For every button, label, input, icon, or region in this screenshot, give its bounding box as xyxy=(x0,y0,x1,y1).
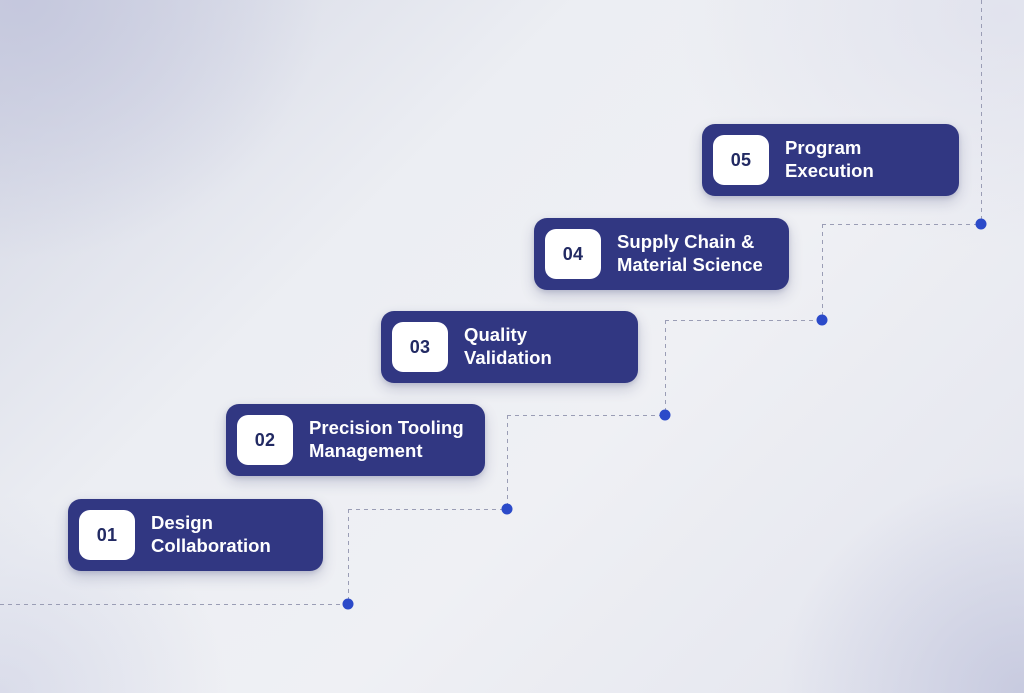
connector-dot-5 xyxy=(976,219,987,230)
step-number-badge-03: 03 xyxy=(392,322,448,372)
connector-dot-1 xyxy=(343,599,354,610)
step-label-03: Quality Validation xyxy=(464,324,552,369)
connector-segment-v5 xyxy=(981,0,982,224)
connector-dot-4 xyxy=(817,315,828,326)
step-card-02[interactable]: 02 Precision Tooling Management xyxy=(226,404,485,476)
step-number-badge-05: 05 xyxy=(713,135,769,185)
step-label-05: Program Execution xyxy=(785,137,874,182)
connector-segment-v3 xyxy=(665,320,666,415)
step-card-05[interactable]: 05 Program Execution xyxy=(702,124,959,196)
step-card-03[interactable]: 03 Quality Validation xyxy=(381,311,638,383)
step-number-badge-01: 01 xyxy=(79,510,135,560)
step-number-badge-02: 02 xyxy=(237,415,293,465)
connector-segment-h3 xyxy=(507,415,665,416)
connector-dot-3 xyxy=(660,410,671,421)
connector-segment-v2 xyxy=(507,415,508,509)
connector-segment-h5 xyxy=(822,224,981,225)
connector-segment-h1 xyxy=(0,604,348,605)
step-label-04: Supply Chain & Material Science xyxy=(617,231,763,276)
connector-segment-v4 xyxy=(822,224,823,320)
connector-dot-2 xyxy=(502,504,513,515)
step-card-04[interactable]: 04 Supply Chain & Material Science xyxy=(534,218,789,290)
infographic-canvas: 01 Design Collaboration 02 Precision Too… xyxy=(0,0,1024,693)
step-number-badge-04: 04 xyxy=(545,229,601,279)
step-label-02: Precision Tooling Management xyxy=(309,417,464,462)
step-card-01[interactable]: 01 Design Collaboration xyxy=(68,499,323,571)
connector-segment-h4 xyxy=(665,320,822,321)
connector-segment-h2 xyxy=(348,509,507,510)
connector-segment-v1 xyxy=(348,509,349,604)
step-label-01: Design Collaboration xyxy=(151,512,271,557)
